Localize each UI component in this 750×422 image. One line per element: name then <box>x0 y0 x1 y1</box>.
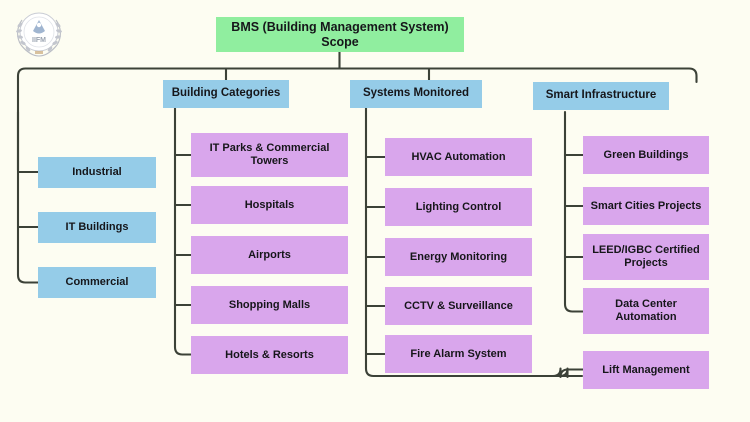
node-label: Industrial <box>72 166 122 179</box>
node-leed-igbc-certified-projects[interactable]: LEED/IGBC Certified Projects <box>583 234 709 280</box>
node-label: LEED/IGBC Certified Projects <box>588 244 704 270</box>
node-hotels-resorts[interactable]: Hotels & Resorts <box>191 336 348 374</box>
node-label: Hotels & Resorts <box>225 349 314 362</box>
node-commercial[interactable]: Commercial <box>38 267 156 298</box>
node-label: Fire Alarm System <box>410 348 506 361</box>
node-label: Commercial <box>66 276 129 289</box>
wire-si-spine <box>565 112 583 312</box>
node-industrial[interactable]: Industrial <box>38 157 156 188</box>
wire-bc-spine <box>175 108 191 355</box>
node-label: Hospitals <box>245 199 295 212</box>
branch-header-label: Building Categories <box>172 87 281 101</box>
node-green-buildings[interactable]: Green Buildings <box>583 136 709 174</box>
logo-text: IIFM <box>32 37 46 44</box>
node-label: Shopping Malls <box>229 299 310 312</box>
branch-header-smart-infrastructure[interactable]: Smart Infrastructure <box>533 82 669 110</box>
wire-lift-management-link <box>553 369 585 378</box>
node-it-parks-commercial-towers[interactable]: IT Parks & Commercial Towers <box>191 133 348 177</box>
root-node-label: BMS (Building Management System) Scope <box>221 20 459 50</box>
root-node-bms-scope[interactable]: BMS (Building Management System) Scope <box>216 17 464 52</box>
wire-left-spine <box>18 112 38 283</box>
node-label: Energy Monitoring <box>410 251 507 264</box>
node-cctv-surveillance[interactable]: CCTV & Surveillance <box>385 287 532 325</box>
node-hospitals[interactable]: Hospitals <box>191 186 348 224</box>
node-label: Airports <box>248 249 291 262</box>
node-label: Data Center Automation <box>588 298 704 324</box>
node-label: CCTV & Surveillance <box>404 300 513 313</box>
node-lift-management[interactable]: Lift Management <box>583 351 709 389</box>
node-energy-monitoring[interactable]: Energy Monitoring <box>385 238 532 276</box>
node-label: IT Parks & Commercial Towers <box>196 142 343 168</box>
node-label: HVAC Automation <box>411 151 505 164</box>
branch-header-label: Systems Monitored <box>363 87 469 101</box>
branch-header-systems-monitored[interactable]: Systems Monitored <box>350 80 482 108</box>
branch-header-label: Smart Infrastructure <box>546 89 657 103</box>
wire-lift-management-jog <box>560 369 568 378</box>
node-hvac-automation[interactable]: HVAC Automation <box>385 138 532 176</box>
node-label: Lighting Control <box>416 201 502 214</box>
node-label: Smart Cities Projects <box>591 200 702 213</box>
node-lighting-control[interactable]: Lighting Control <box>385 188 532 226</box>
diagram-canvas: IIFM BMS (Building Management System) Sc… <box>0 0 750 422</box>
branch-header-building-categories[interactable]: Building Categories <box>163 80 289 108</box>
node-data-center-automation[interactable]: Data Center Automation <box>583 288 709 334</box>
iifm-logo: IIFM <box>8 6 70 62</box>
node-shopping-malls[interactable]: Shopping Malls <box>191 286 348 324</box>
node-it-buildings[interactable]: IT Buildings <box>38 212 156 243</box>
node-fire-alarm-system[interactable]: Fire Alarm System <box>385 335 532 373</box>
node-label: Lift Management <box>602 364 689 377</box>
node-label: Green Buildings <box>604 149 689 162</box>
node-label: IT Buildings <box>66 221 129 234</box>
node-airports[interactable]: Airports <box>191 236 348 274</box>
node-smart-cities-projects[interactable]: Smart Cities Projects <box>583 187 709 225</box>
